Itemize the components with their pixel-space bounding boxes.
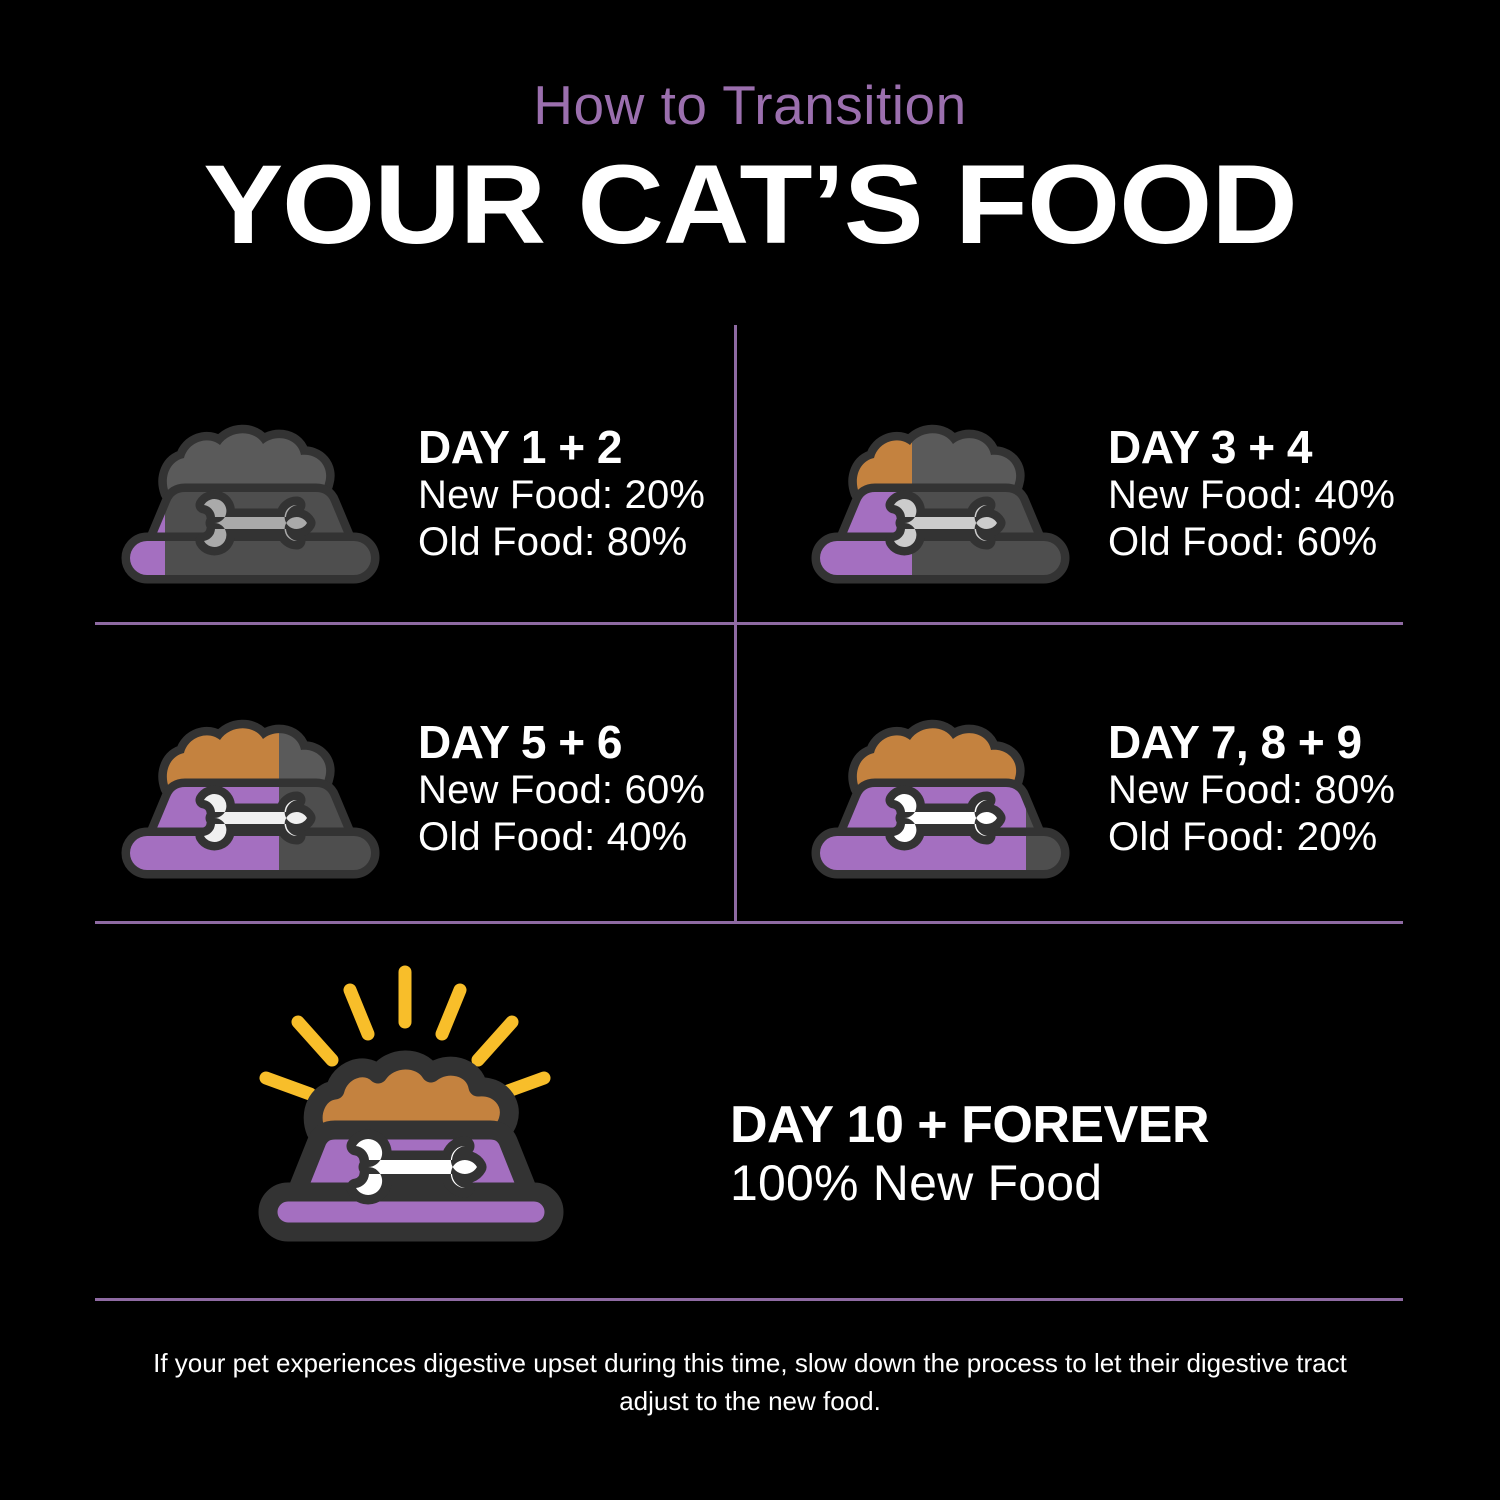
new-food-line: New Food: 60% xyxy=(418,767,720,814)
step-card-day-7-8-9: DAY 7, 8 + 9 New Food: 80% Old Food: 20% xyxy=(790,675,1410,905)
step-text: DAY 1 + 2 New Food: 20% Old Food: 80% xyxy=(400,423,720,566)
eyebrow-text: How to Transition xyxy=(0,78,1500,133)
bowl-slot xyxy=(790,690,1090,890)
step-text: DAY 5 + 6 New Food: 60% Old Food: 40% xyxy=(400,718,720,861)
cat-food-bowl-icon xyxy=(108,395,393,595)
bowl-slot xyxy=(100,960,710,1280)
new-food-line: New Food: 20% xyxy=(418,472,720,519)
bowl-base xyxy=(130,541,371,575)
step-title: DAY 1 + 2 xyxy=(418,423,720,472)
step-card-day-3-4: DAY 3 + 4 New Food: 40% Old Food: 60% xyxy=(790,380,1410,610)
bowl-slot xyxy=(100,395,400,595)
bowl-base xyxy=(820,541,1061,575)
step-title: DAY 7, 8 + 9 xyxy=(1108,718,1410,767)
old-food-line: Old Food: 40% xyxy=(418,814,720,861)
final-step-subtitle: 100% New Food xyxy=(730,1153,1410,1213)
step-card-day-5-6: DAY 5 + 6 New Food: 60% Old Food: 40% xyxy=(100,675,720,905)
cat-food-bowl-icon xyxy=(108,690,393,890)
step-title: DAY 5 + 6 xyxy=(418,718,720,767)
divider-horizontal-bottom xyxy=(95,1298,1403,1301)
page-title: YOUR CAT’S FOOD xyxy=(0,149,1500,261)
bowl-base xyxy=(820,836,1061,870)
step-card-day-10-forever: DAY 10 + FOREVER 100% New Food xyxy=(100,955,1410,1285)
divider-horizontal-middle xyxy=(95,622,1403,625)
new-food-line: New Food: 80% xyxy=(1108,767,1410,814)
step-text: DAY 3 + 4 New Food: 40% Old Food: 60% xyxy=(1090,423,1410,566)
old-food-line: Old Food: 80% xyxy=(418,519,720,566)
divider-horizontal-lower xyxy=(95,921,1403,924)
bowl-slot xyxy=(100,690,400,890)
cat-food-bowl-icon xyxy=(798,690,1083,890)
bowl-slot xyxy=(790,395,1090,595)
infographic-page: How to Transition YOUR CAT’S FOOD xyxy=(0,0,1500,1500)
bowl-base xyxy=(268,1192,554,1232)
step-title: DAY 3 + 4 xyxy=(1108,423,1410,472)
step-text: DAY 7, 8 + 9 New Food: 80% Old Food: 20% xyxy=(1090,718,1410,861)
old-food-line: Old Food: 20% xyxy=(1108,814,1410,861)
cat-food-bowl-icon xyxy=(798,395,1083,595)
cat-food-bowl-sunburst-icon xyxy=(240,960,570,1280)
final-step-text: DAY 10 + FOREVER 100% New Food xyxy=(710,1027,1410,1213)
old-food-line: Old Food: 60% xyxy=(1108,519,1410,566)
header: How to Transition YOUR CAT’S FOOD xyxy=(0,78,1500,261)
divider-vertical-bottom xyxy=(734,622,737,924)
step-card-day-1-2: DAY 1 + 2 New Food: 20% Old Food: 80% xyxy=(100,380,720,610)
divider-vertical-top xyxy=(734,325,737,624)
footnote-text: If your pet experiences digestive upset … xyxy=(150,1345,1350,1420)
bowl-base xyxy=(130,836,371,870)
new-food-line: New Food: 40% xyxy=(1108,472,1410,519)
final-step-title: DAY 10 + FOREVER xyxy=(730,1097,1410,1153)
